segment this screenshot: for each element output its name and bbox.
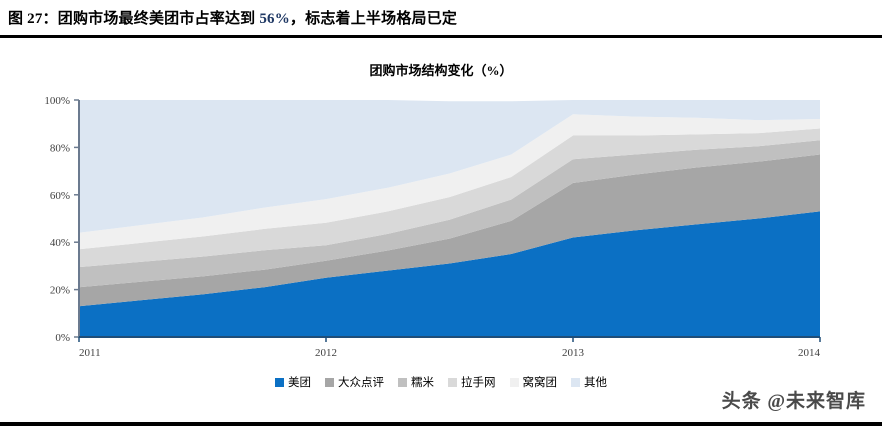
y-tick-label: 0%	[55, 332, 70, 344]
legend-label: 美团	[288, 374, 311, 390]
x-tick-label: 2014	[798, 347, 821, 359]
legend-item-拉手网[interactable]: 拉手网	[448, 374, 496, 390]
y-tick-label: 100%	[44, 95, 70, 107]
legend-label: 拉手网	[461, 374, 496, 390]
x-tick-label: 2012	[315, 347, 337, 359]
legend-item-大众点评[interactable]: 大众点评	[325, 374, 384, 390]
legend-swatch-icon	[275, 378, 284, 387]
legend-item-其他[interactable]: 其他	[571, 374, 607, 390]
legend-label: 窝窝团	[523, 374, 558, 390]
x-tick-label: 2013	[562, 347, 585, 359]
legend-item-美团[interactable]: 美团	[275, 374, 311, 390]
legend-item-糯米[interactable]: 糯米	[398, 374, 434, 390]
x-tick-label: 2011	[79, 347, 101, 359]
watermark: 头条 @未来智库	[722, 386, 866, 413]
stacked-area-chart: 0%20%40%60%80%100%2011201220132014	[0, 0, 882, 426]
legend-swatch-icon	[325, 378, 334, 387]
y-tick-label: 20%	[50, 285, 70, 297]
legend-label: 其他	[584, 374, 607, 390]
legend-swatch-icon	[448, 378, 457, 387]
y-tick-label: 60%	[50, 190, 70, 202]
y-tick-label: 40%	[50, 237, 70, 249]
legend-label: 大众点评	[338, 374, 384, 390]
legend-item-窝窝团[interactable]: 窝窝团	[510, 374, 558, 390]
legend-swatch-icon	[510, 378, 519, 387]
y-tick-label: 80%	[50, 142, 70, 154]
legend-label: 糯米	[411, 374, 434, 390]
footer-divider	[0, 422, 882, 426]
legend-swatch-icon	[571, 378, 580, 387]
legend-swatch-icon	[398, 378, 407, 387]
